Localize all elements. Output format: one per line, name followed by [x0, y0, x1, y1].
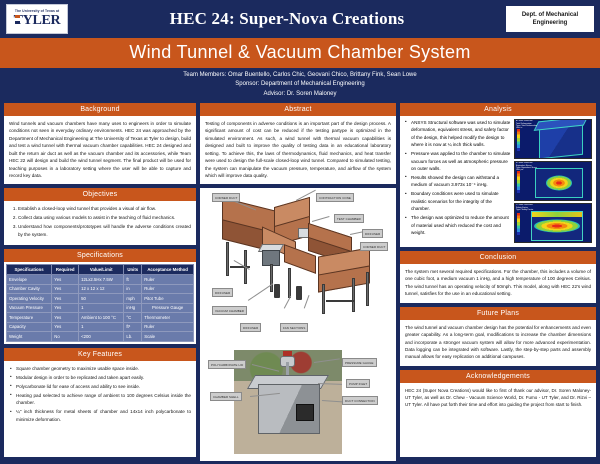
cell-spec: Temperature: [7, 313, 52, 323]
duct-connection-port: [296, 404, 314, 421]
abstract-heading: Abstract: [200, 103, 396, 116]
right-column: Analysis ANSYS Structural software was u…: [400, 103, 596, 457]
cell-units: ft: [124, 275, 142, 285]
cad-label-diffuser-3: DIFFUSER: [240, 323, 261, 331]
left-column: Background Wind tunnels and vacuum chamb…: [4, 103, 196, 457]
figures-panel: CORNER DUCT CONTRACTION CONE TEST CHAMBE…: [200, 188, 396, 461]
photo-label-pump-inlet: PUMP INLET: [346, 379, 370, 387]
list-item: Understand how components/prototypes wil…: [18, 223, 191, 238]
photo-label-duct-connection: DUCT CONNECTION: [342, 396, 378, 404]
cell-method: Pressure Gauge: [142, 303, 194, 313]
logo-flag-icon: [15, 15, 20, 24]
key-features-list: Square chamber geometry to maximize usab…: [9, 365, 191, 423]
credits-block: Team Members: Omar Buentello, Carlos Chi…: [0, 68, 600, 103]
cell-required: Yes: [52, 294, 79, 304]
column-header: Required: [52, 264, 79, 274]
future-plans-heading: Future Plans: [400, 307, 596, 320]
list-item: ANSYS Structural software was used to si…: [405, 119, 511, 149]
chamber-photograph: [234, 350, 342, 454]
ut-tyler-logo: The University of Texas at TYLER: [6, 4, 68, 34]
table-row: Chamber Cavity Yes 12 x 12 x 12 in Ruler: [7, 284, 194, 294]
acknowledgements-text: HEC 24 (Super Nova Creations) would like…: [400, 383, 596, 457]
logo-tyler-text: TYLER: [14, 13, 61, 28]
future-plans-text: The wind tunnel and vacuum chamber desig…: [400, 320, 596, 366]
cell-units: in: [124, 284, 142, 294]
stress-hotspot: [546, 175, 572, 190]
wind-tunnel-assembly-cad: CORNER DUCT CONTRACTION CONE TEST CHAMBE…: [200, 188, 396, 336]
list-item: Polycarbonate lid for ease of access and…: [10, 383, 191, 390]
objectives-body: Establish a closed-loop wind tunnel that…: [4, 201, 196, 244]
specifications-body: Specifications Required Value/Limit Unit…: [4, 262, 196, 344]
cad-label-corner-duct-2: CORNER DUCT: [360, 242, 388, 250]
analysis-list: ANSYS Structural software was used to si…: [404, 119, 511, 237]
table-row: Temperature Yes Ambient to 100 °C °C The…: [7, 313, 194, 323]
analysis-text: ANSYS Structural software was used to si…: [404, 119, 511, 243]
project-subtitle: Wind Tunnel & Vacuum Chamber System: [0, 42, 600, 63]
table-row: Vacuum Pressure Yes 1 inHg Pressure Gaug…: [7, 303, 194, 313]
cell-required: Yes: [52, 322, 79, 332]
cell-units: inHg: [124, 303, 142, 313]
cell-required: Yes: [52, 313, 79, 323]
list-item: Boundary conditions were used to simulat…: [405, 190, 511, 212]
specifications-table: Specifications Required Value/Limit Unit…: [6, 264, 194, 342]
project-subtitle-band: Wind Tunnel & Vacuum Chamber System: [0, 38, 600, 68]
cell-method: Thermometer: [142, 313, 194, 323]
key-features-heading: Key Features: [4, 348, 196, 361]
table-row: Capacity Yes 1 ft³ Ruler: [7, 322, 194, 332]
specifications-heading: Specifications: [4, 249, 196, 262]
conclusion-panel: Conclusion The system met several requir…: [400, 251, 596, 303]
cell-spec: Operating Velocity: [7, 294, 52, 304]
objectives-panel: Objectives Establish a closed-loop wind …: [4, 188, 196, 244]
department-badge: Dept. of Mechanical Engineering: [506, 6, 594, 32]
cad-label-diffuser-1: DIFFUSER: [362, 229, 383, 237]
background-panel: Background Wind tunnels and vacuum chamb…: [4, 103, 196, 185]
list-item: Pressure was applied to the chamber to s…: [405, 150, 511, 172]
vacuum-chamber-photo: POLYCARBONATE LID CHAMBER SHELL PRESSURE…: [200, 336, 396, 461]
table-row: Operating Velocity Yes 50 mph Pitot Tube: [7, 294, 194, 304]
cell-required: Yes: [52, 303, 79, 313]
color-scale-bar: [517, 213, 520, 235]
photo-label-chamber-shell: CHAMBER SHELL: [210, 392, 242, 400]
page-title: HEC 24: Super-Nova Creations: [68, 9, 506, 29]
team-members: Team Members: Omar Buentello, Carlos Chi…: [0, 71, 600, 80]
cell-method: Ruler: [142, 322, 194, 332]
photo-label-pressure-gauge: PRESSURE GAUGE: [342, 358, 377, 366]
poster-header: The University of Texas at TYLER HEC 24:…: [0, 0, 600, 38]
chamber-lid-mesh: [534, 119, 589, 131]
logo-tyler-wordmark: TYLER: [14, 14, 61, 28]
cad-label-fan-sections: FAN SECTIONS: [280, 323, 308, 331]
middle-column: Abstract Testing of components in advers…: [200, 103, 396, 457]
list-item: Heating pad selected to achieve range of…: [10, 392, 191, 407]
list-item: Modular design in order to be replicated…: [10, 374, 191, 381]
cad-label-diffuser-2: DIFFUSER: [212, 288, 233, 296]
advisor-line: Advisor: Dr. Soren Maloney: [0, 90, 600, 99]
abstract-text: Testing of components in adverse conditi…: [200, 116, 396, 185]
analysis-body: ANSYS Structural software was used to si…: [400, 116, 596, 247]
cell-value: 12Lx2.5Hx 7.5W: [79, 275, 124, 285]
fea-caption: C: Static Structural Safety Factor Type:…: [516, 204, 533, 211]
cell-units: Lb.: [124, 332, 142, 342]
list-item: Square chamber geometry to maximize usab…: [10, 365, 191, 372]
cell-value: <200: [79, 332, 124, 342]
list-item: The design was optimized to reduce the a…: [405, 214, 511, 236]
column-header: Acceptance Method: [142, 264, 194, 274]
fea-total-deformation: A: Static Structural Total Deformation T…: [514, 119, 592, 159]
column-header: Value/Limit: [79, 264, 124, 274]
analysis-heading: Analysis: [400, 103, 596, 116]
chamber-mesh: [539, 122, 583, 159]
cell-method: Pitot Tube: [142, 294, 194, 304]
table-row: Weight No <200 Lb. Scale: [7, 332, 194, 342]
cad-label-contraction-cone: CONTRACTION CONE: [316, 193, 354, 201]
chamber-mesh: [531, 211, 583, 241]
cad-label-test-chamber: TEST CHAMBER: [334, 214, 364, 222]
poster-columns: Background Wind tunnels and vacuum chamb…: [0, 103, 600, 461]
key-features-body: Square chamber geometry to maximize usab…: [4, 361, 196, 457]
cell-spec: Weight: [7, 332, 52, 342]
cell-spec: Envelope: [7, 275, 52, 285]
specifications-panel: Specifications Specifications Required V…: [4, 249, 196, 344]
conclusion-heading: Conclusion: [400, 251, 596, 264]
color-scale-bar: [517, 171, 520, 193]
cell-spec: Capacity: [7, 322, 52, 332]
fea-equivalent-stress: B: Static Structural Equivalent Stress T…: [514, 161, 592, 201]
list-item: Results showed the design can withstand …: [405, 174, 511, 189]
cell-method: Ruler: [142, 284, 194, 294]
cell-value: 50: [79, 294, 124, 304]
cell-spec: Chamber Cavity: [7, 284, 52, 294]
cell-units: °C: [124, 313, 142, 323]
future-plans-panel: Future Plans The wind tunnel and vacuum …: [400, 307, 596, 366]
objectives-list: Establish a closed-loop wind tunnel that…: [9, 205, 191, 238]
column-header: Specifications: [7, 264, 52, 274]
cell-units: ft³: [124, 322, 142, 332]
chamber-mesh: [535, 168, 583, 198]
acknowledgements-heading: Acknowledgements: [400, 370, 596, 383]
background-heading: Background: [4, 103, 196, 116]
table-header-row: Specifications Required Value/Limit Unit…: [7, 264, 194, 274]
color-scale-bar: [517, 129, 520, 151]
cell-value: 1: [79, 322, 124, 332]
conclusion-text: The system met several required specific…: [400, 264, 596, 303]
background-text: Wind tunnels and vacuum chambers have ma…: [4, 116, 196, 185]
cell-required: Yes: [52, 275, 79, 285]
cad-label-corner-duct-1: CORNER DUCT: [212, 193, 240, 201]
objectives-heading: Objectives: [4, 188, 196, 201]
cell-value: 12 x 12 x 12: [79, 284, 124, 294]
list-item: Collect data using various models to ass…: [18, 214, 191, 221]
cell-method: Scale: [142, 332, 194, 342]
fea-safety-factor: C: Static Structural Safety Factor Type:…: [514, 203, 592, 243]
cell-units: mph: [124, 294, 142, 304]
analysis-panel: Analysis ANSYS Structural software was u…: [400, 103, 596, 247]
column-header: Units: [124, 264, 142, 274]
sponsor-line: Sponsor: Department of Mechanical Engine…: [0, 80, 600, 89]
list-item: ¼" inch thickness for metal sheets of ch…: [10, 408, 191, 423]
list-item: Establish a closed-loop wind tunnel that…: [18, 205, 191, 212]
cad-label-vacuum-chamber: VACUUM CHAMBER: [212, 306, 247, 314]
cell-spec: Vacuum Pressure: [7, 303, 52, 313]
key-features-panel: Key Features Square chamber geometry to …: [4, 348, 196, 457]
cell-value: 1: [79, 303, 124, 313]
photo-label-polycarbonate-lid: POLYCARBONATE LID: [208, 360, 246, 368]
abstract-panel: Abstract Testing of components in advers…: [200, 103, 396, 185]
table-row: Envelope Yes 12Lx2.5Hx 7.5W ft Ruler: [7, 275, 194, 285]
cell-method: Ruler: [142, 275, 194, 285]
cell-value: Ambient to 100 °C: [79, 313, 124, 323]
cell-required: No: [52, 332, 79, 342]
fea-image-stack: A: Static Structural Total Deformation T…: [514, 119, 592, 243]
safety-edge-band: [532, 212, 582, 217]
cell-required: Yes: [52, 284, 79, 294]
safety-hotspot: [534, 219, 580, 232]
acknowledgements-panel: Acknowledgements HEC 24 (Super Nova Crea…: [400, 370, 596, 457]
